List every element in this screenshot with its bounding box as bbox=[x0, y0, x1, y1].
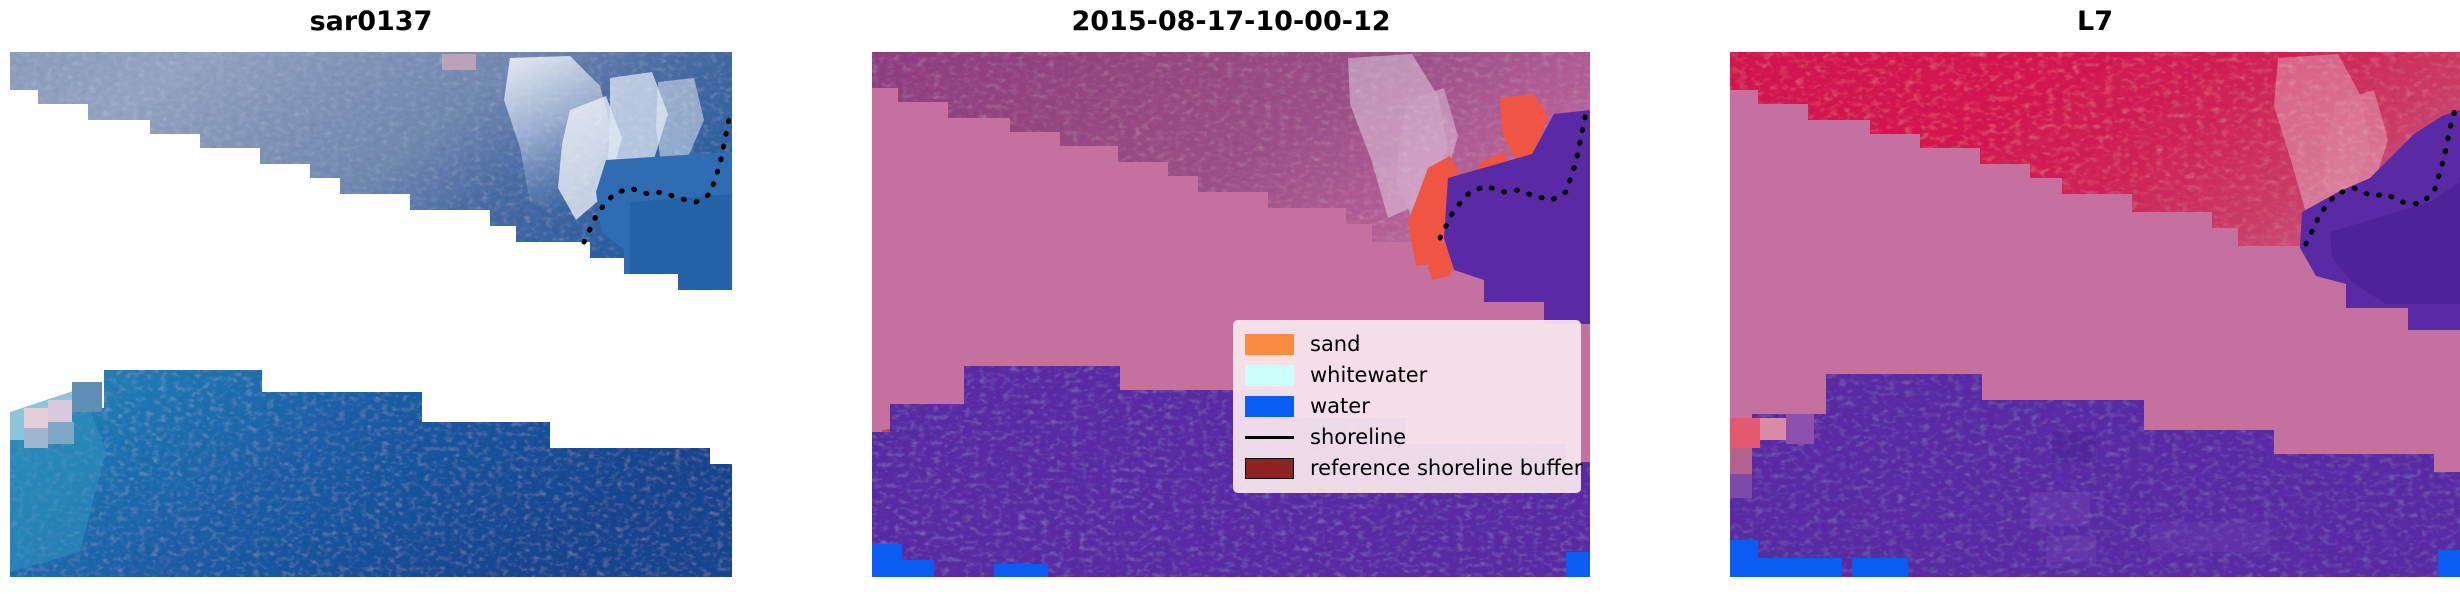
l7-image bbox=[1730, 52, 2460, 577]
panel-timestamp bbox=[872, 52, 1590, 577]
legend-item-reference-shoreline-buffer: reference shoreline buffer bbox=[1245, 453, 1571, 484]
sar-lower-band bbox=[10, 370, 732, 577]
sar-pink-pixel bbox=[442, 54, 476, 70]
legend-item-shoreline: shoreline bbox=[1245, 422, 1571, 453]
legend-item-whitewater: whitewater bbox=[1245, 360, 1571, 391]
legend-label-sand: sand bbox=[1310, 334, 1360, 355]
sar-image bbox=[10, 52, 732, 577]
figure-root: sar0137 bbox=[0, 0, 2460, 594]
legend-label-whitewater: whitewater bbox=[1310, 365, 1427, 386]
panel-title-sar: sar0137 bbox=[10, 6, 732, 37]
panel-title-timestamp: 2015-08-17-10-00-12 bbox=[872, 6, 1590, 37]
legend-item-sand: sand bbox=[1245, 329, 1571, 360]
whitewater-swatch-icon bbox=[1245, 365, 1294, 386]
panel-sar bbox=[10, 52, 732, 577]
shoreline-line-icon bbox=[1245, 427, 1294, 448]
sand-swatch-icon bbox=[1245, 334, 1294, 355]
legend: sand whitewater water shoreline referenc… bbox=[1233, 320, 1581, 493]
legend-label-shoreline: shoreline bbox=[1310, 427, 1406, 448]
legend-item-water: water bbox=[1245, 391, 1571, 422]
classified-overlay-image bbox=[872, 52, 1590, 577]
legend-label-reference-shoreline-buffer: reference shoreline buffer bbox=[1310, 458, 1582, 479]
sar-water-wedge bbox=[596, 152, 732, 290]
water-swatch-icon bbox=[1245, 396, 1294, 417]
legend-label-water: water bbox=[1310, 396, 1370, 417]
panel-l7 bbox=[1730, 52, 2460, 577]
reference-buffer-swatch-icon bbox=[1245, 458, 1294, 479]
panel-title-l7: L7 bbox=[1730, 6, 2460, 37]
